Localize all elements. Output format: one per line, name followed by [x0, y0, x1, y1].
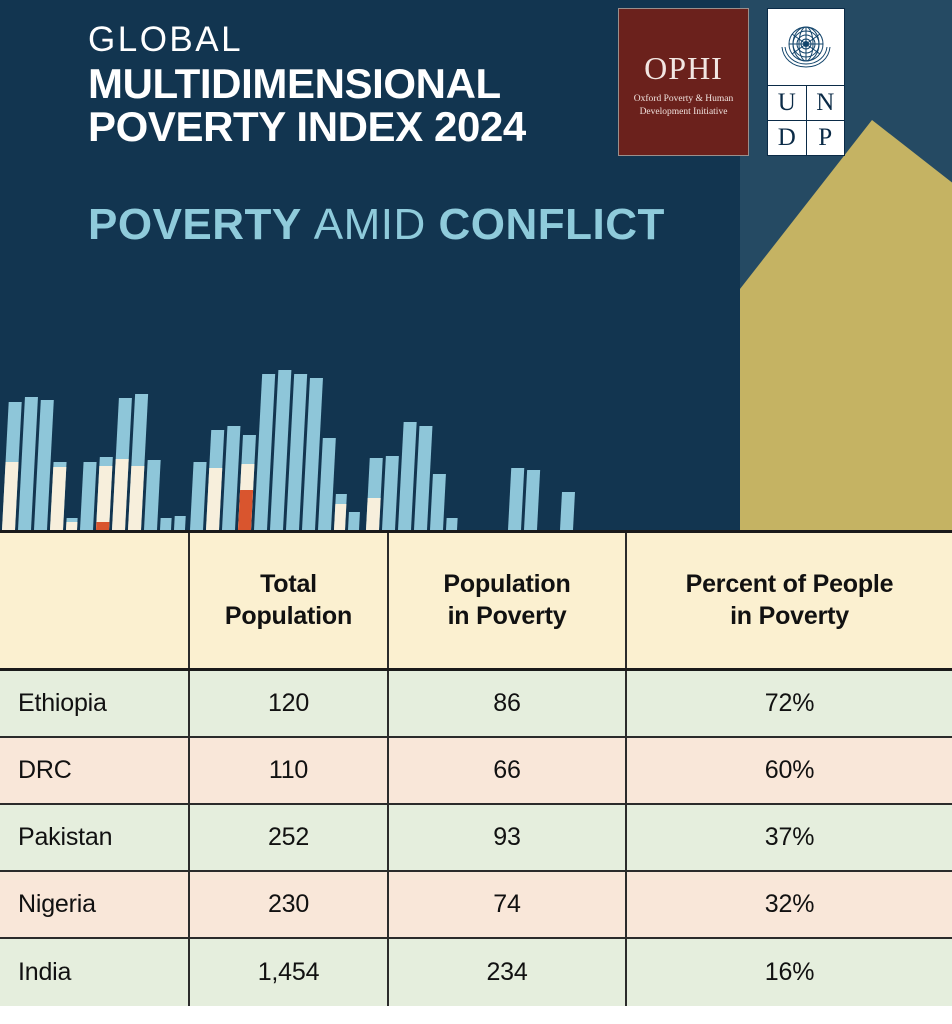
subtitle-bold-1: POVERTY	[88, 200, 301, 249]
column-header-line: Percent of People	[686, 569, 894, 601]
decorative-bar	[174, 516, 186, 530]
decorative-bar	[222, 426, 240, 530]
decorative-bar	[318, 438, 336, 530]
subtitle-light: AMID	[314, 200, 426, 249]
decorative-bar	[508, 468, 524, 530]
title-line-2: POVERTY INDEX 2024	[88, 106, 526, 149]
decorative-bar-segment-cream	[366, 498, 381, 530]
column-header-0	[0, 533, 190, 668]
decorative-bar	[66, 518, 78, 530]
subtitle: POVERTY AMID CONFLICT	[88, 200, 665, 250]
page-title: MULTIDIMENSIONAL POVERTY INDEX 2024	[88, 63, 526, 149]
title-block: GLOBAL MULTIDIMENSIONAL POVERTY INDEX 20…	[88, 22, 526, 148]
decorative-bar-segment-cream	[206, 468, 222, 530]
poverty-table: TotalPopulationPopulationin PovertyPerce…	[0, 530, 952, 1024]
population-in-poverty-value: 74	[389, 872, 627, 937]
population-in-poverty-value: 86	[389, 671, 627, 736]
total-population-value: 110	[190, 738, 389, 803]
decorative-bar-segment-cream	[112, 459, 129, 530]
population-in-poverty-value: 93	[389, 805, 627, 870]
decorative-bar	[334, 494, 347, 530]
decorative-bar-segment-cream	[50, 467, 66, 530]
undp-row-bottom: D P	[768, 121, 844, 156]
country-name: Pakistan	[0, 805, 190, 870]
table-row: Nigeria2307432%	[0, 872, 952, 939]
title-line-1: MULTIDIMENSIONAL	[88, 63, 526, 106]
column-header-3: Percent of Peoplein Poverty	[627, 533, 952, 668]
decorative-bar	[238, 435, 256, 530]
percent-in-poverty-value: 60%	[627, 738, 952, 803]
decorative-bar	[50, 462, 67, 530]
decorative-bar-segment-cream	[128, 466, 144, 530]
decorative-bar	[80, 462, 97, 530]
decorative-bar	[348, 512, 360, 530]
table-row: Pakistan2529337%	[0, 805, 952, 872]
undp-letter-u: U	[768, 86, 806, 121]
infographic-page: GLOBAL MULTIDIMENSIONAL POVERTY INDEX 20…	[0, 0, 952, 1024]
column-header-line: Population	[443, 569, 570, 601]
column-header-1: TotalPopulation	[190, 533, 389, 668]
table-row: DRC1106660%	[0, 738, 952, 805]
country-name: DRC	[0, 738, 190, 803]
total-population-value: 252	[190, 805, 389, 870]
undp-letter-n: N	[806, 86, 845, 121]
undp-row-top: U N	[768, 86, 844, 121]
percent-in-poverty-value: 37%	[627, 805, 952, 870]
undp-letter-p: P	[806, 121, 845, 156]
decorative-bar	[414, 426, 432, 530]
country-name: India	[0, 939, 190, 1006]
subtitle-bold-2: CONFLICT	[438, 200, 664, 249]
column-header-line: in Poverty	[686, 601, 894, 633]
undp-letter-d: D	[768, 121, 806, 156]
decorative-bar	[96, 457, 113, 530]
decorative-bar	[382, 456, 399, 530]
decorative-bar	[524, 470, 540, 530]
decorative-bar-chart	[0, 355, 620, 530]
ophi-tagline: Oxford Poverty & Human Development Initi…	[626, 93, 742, 119]
decorative-bar	[206, 430, 224, 530]
decorative-bar	[560, 492, 575, 530]
undp-lettermark: U N D P	[768, 86, 844, 155]
table-row: Ethiopia1208672%	[0, 671, 952, 738]
hero-banner: GLOBAL MULTIDIMENSIONAL POVERTY INDEX 20…	[0, 0, 952, 530]
country-name: Ethiopia	[0, 671, 190, 736]
decorative-bar-segment-cream	[2, 462, 19, 530]
total-population-value: 1,454	[190, 939, 389, 1006]
table-row: India1,45423416%	[0, 939, 952, 1006]
decorative-bar	[144, 460, 161, 530]
country-name: Nigeria	[0, 872, 190, 937]
decorative-bar-segment-cream	[96, 466, 112, 530]
population-in-poverty-value: 234	[389, 939, 627, 1006]
undp-logo: U N D P	[767, 8, 845, 156]
column-header-line: Total	[225, 569, 352, 601]
decorative-bar-segment-orange	[238, 490, 253, 530]
decorative-bar	[446, 518, 458, 530]
logo-group: OPHI Oxford Poverty & Human Development …	[618, 8, 845, 156]
column-header-2: Populationin Poverty	[389, 533, 627, 668]
decorative-bar-segment-cream	[334, 504, 346, 530]
decorative-bar	[366, 458, 383, 530]
column-header-line: Population	[225, 601, 352, 633]
percent-in-poverty-value: 16%	[627, 939, 952, 1006]
decorative-bar-segment-cream	[66, 522, 77, 530]
table-header-row: TotalPopulationPopulationin PovertyPerce…	[0, 533, 952, 671]
column-header-line: in Poverty	[443, 601, 570, 633]
un-emblem-icon	[768, 9, 844, 86]
decorative-bar	[430, 474, 446, 530]
population-in-poverty-value: 66	[389, 738, 627, 803]
decorative-bar	[190, 462, 207, 530]
total-population-value: 230	[190, 872, 389, 937]
total-population-value: 120	[190, 671, 389, 736]
ophi-wordmark: OPHI	[644, 52, 723, 84]
percent-in-poverty-value: 72%	[627, 671, 952, 736]
eyebrow-global: GLOBAL	[88, 22, 526, 59]
ophi-logo: OPHI Oxford Poverty & Human Development …	[618, 8, 749, 156]
decorative-bar-segment-orange	[96, 522, 109, 530]
decorative-bar	[160, 518, 172, 530]
percent-in-poverty-value: 32%	[627, 872, 952, 937]
